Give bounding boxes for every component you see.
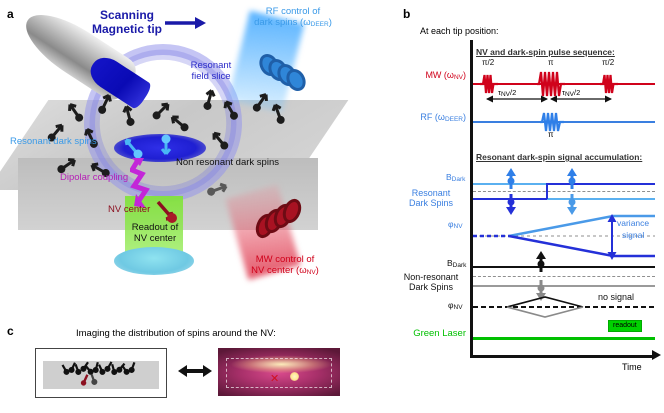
nonresonant-dark-spins-row-label: Non-resonant Dark Spins — [392, 272, 470, 292]
resonant-spin-up-2 — [565, 168, 579, 195]
bdark-nonres-dn-trace — [473, 285, 655, 287]
time-axis-arrowhead — [652, 350, 661, 360]
tau-2-arrow — [550, 91, 612, 109]
b-dark-nonres-subscript: Dark — [453, 262, 467, 269]
b-dark-resonant-label: BDark — [446, 172, 465, 183]
measured-image-bright-spot — [290, 372, 299, 381]
readout-collection-ellipse — [114, 247, 194, 275]
variance-annotation: variance — [617, 218, 649, 228]
phi-nv-resonant-label: φNV — [448, 219, 463, 230]
nv-position-marker-icon: ✕ — [270, 374, 279, 385]
correspondence-double-arrow — [178, 364, 212, 378]
bdark-flip-connector — [546, 183, 548, 199]
mw-row-label: MW (ωNV) — [408, 70, 466, 81]
mw-pulse-2-label: π — [548, 58, 554, 67]
readout-pulse-box: readout — [608, 320, 642, 332]
resonant-field-slice-label: Resonant field slice — [172, 60, 250, 82]
time-axis-horizontal — [470, 355, 655, 358]
bdark-resonant-center-dashline — [473, 191, 655, 192]
panel-a-letter: a — [7, 7, 14, 21]
mw-row-subscript: NV — [454, 74, 463, 81]
mw-pulse-3-label: π/2 — [602, 58, 614, 67]
phi-nv-nonres-label: φNV — [448, 300, 463, 311]
tau-2-subscript: NV — [565, 91, 574, 98]
tau-1-subscript: NV — [501, 91, 510, 98]
pulse-sequence-section-title: NV and dark-spin pulse sequence: — [476, 47, 615, 57]
green-laser-baseline-trace — [473, 337, 655, 340]
tau-2-label: τNV/2 — [562, 88, 580, 98]
panel-b-pulse-sequence: b At each tip position: Time NV and dark… — [400, 0, 664, 413]
phi-nv-nonres-subscript: NV — [454, 304, 463, 311]
nv-center-label: NV center — [108, 204, 150, 215]
resonant-spin-up-1 — [504, 168, 518, 195]
mw-control-label: MW control of NV center (ωNV) — [230, 254, 340, 276]
rf-control-subscript: DEER — [311, 21, 329, 28]
b-dark-nonres-label: BDark — [447, 258, 466, 269]
measured-spin-density-image: ✕ — [218, 348, 340, 396]
mw-pulse-1-label: π/2 — [482, 58, 494, 67]
rf-pulse-pi-label: π — [548, 130, 554, 139]
rf-row-subscript: DEER — [445, 116, 463, 123]
tau-1-label: τNV/2 — [498, 88, 516, 98]
rf-baseline-trace — [473, 121, 655, 123]
bdark-nonres-up-trace — [473, 266, 655, 268]
phi-nv-resonant-subscript: NV — [454, 223, 463, 230]
signal-accumulation-section-title: Resonant dark-spin signal accumulation: — [476, 152, 642, 162]
spin-distribution-schematic — [35, 348, 167, 398]
rf-row-label: RF (ωDEER) — [402, 112, 466, 123]
non-resonant-dark-spins-label: Non resonant dark spins — [176, 157, 279, 168]
schematic-spin-arrows — [36, 349, 166, 397]
bdark-dn-trace-seg2 — [547, 198, 655, 200]
dipolar-coupling-label: Dipolar coupling — [60, 172, 128, 183]
panel-a-illustration: a — [0, 0, 400, 318]
scanning-tip-label: Scanning Magnetic tip — [82, 8, 172, 36]
schematic-nv-center-arrow — [81, 374, 90, 386]
b-dark-resonant-subscript: Dark — [452, 176, 466, 183]
readout-label: Readout of NV center — [114, 222, 196, 244]
no-signal-annotation: no signal — [598, 292, 634, 302]
signal-annotation: signal — [622, 230, 644, 240]
mw-control-subscript: NV — [307, 269, 316, 276]
nonresonant-spin-up — [534, 251, 548, 278]
bdark-up-trace-seg2 — [547, 183, 655, 185]
bdark-nonres-center-dashline — [473, 276, 655, 277]
panel-b-heading: At each tip position: — [420, 26, 499, 36]
time-axis-label: Time — [622, 362, 642, 372]
panel-b-letter: b — [403, 7, 410, 21]
rf-control-label: RF control of dark spins (ωDEER) — [238, 6, 348, 28]
tau-1-arrow — [486, 91, 548, 109]
resonant-dark-spins-label: Resonant dark spins — [10, 136, 97, 147]
green-laser-row-label: Green Laser — [398, 328, 466, 339]
panel-c-imaging: c Imaging the distribution of spins arou… — [0, 318, 400, 413]
resonant-dark-spins-row-label: Resonant Dark Spins — [394, 188, 468, 208]
rf-control-omega: dark spins (ω — [254, 17, 311, 28]
panel-c-title: Imaging the distribution of spins around… — [76, 328, 276, 339]
panel-c-letter: c — [7, 324, 14, 338]
